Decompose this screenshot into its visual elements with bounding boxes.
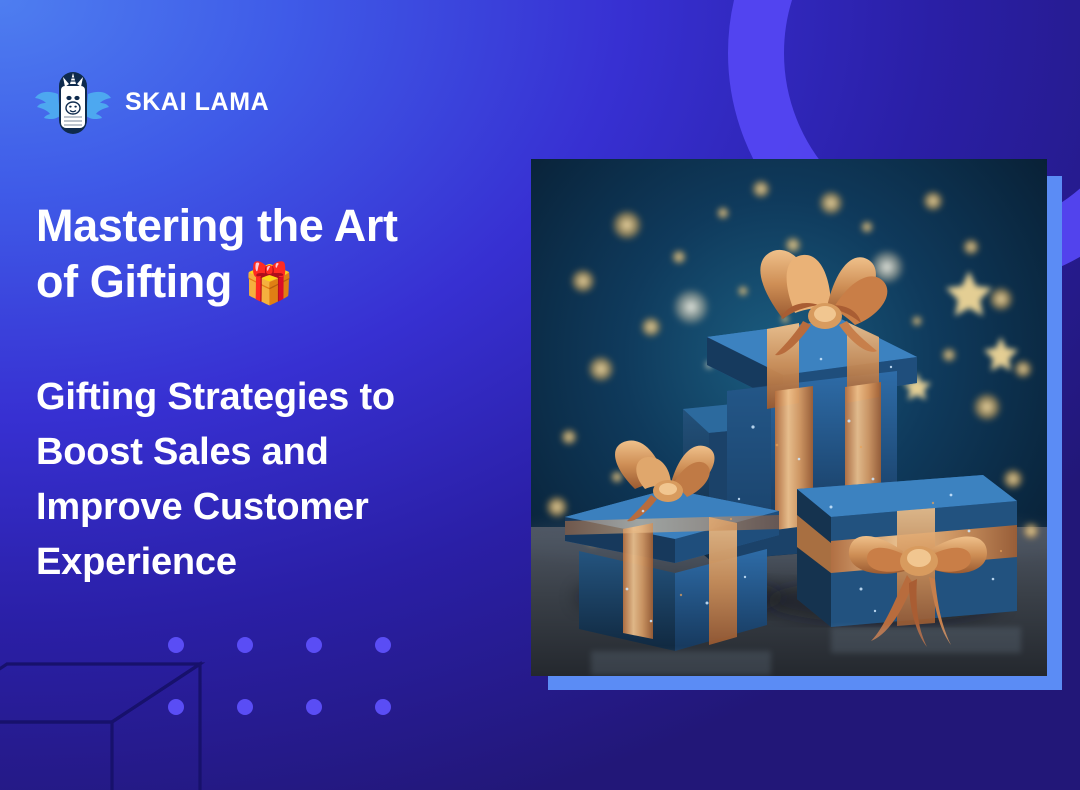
dot bbox=[237, 637, 253, 653]
headline-line-1: Mastering the Art bbox=[36, 200, 398, 251]
brand-name: SKAI LAMA bbox=[125, 88, 269, 117]
copy-block: Mastering the Art of Gifting 🎁 Gifting S… bbox=[36, 198, 516, 590]
wrapped-gift-emoji: 🎁 bbox=[244, 262, 293, 306]
subheadline-line-3: Improve Customer bbox=[36, 486, 369, 528]
page-title: Mastering the Art of Gifting 🎁 bbox=[36, 198, 516, 310]
subheadline-line-1: Gifting Strategies to bbox=[36, 376, 395, 418]
dot bbox=[306, 637, 322, 653]
dot-grid-decoration bbox=[168, 637, 448, 727]
subheadline-line-2: Boost Sales and bbox=[36, 431, 329, 473]
dot bbox=[237, 699, 253, 715]
dot bbox=[168, 699, 184, 715]
dot bbox=[375, 699, 391, 715]
subheadline-line-4: Experience bbox=[36, 541, 237, 583]
dot bbox=[168, 637, 184, 653]
promo-slide: SKAI LAMA Mastering the Art of Gifting 🎁… bbox=[0, 0, 1080, 790]
dot bbox=[306, 699, 322, 715]
brand-logo[interactable]: SKAI LAMA bbox=[34, 68, 269, 136]
winged-llama-icon bbox=[34, 68, 112, 136]
hero-image bbox=[531, 159, 1047, 676]
page-subtitle: Gifting Strategies to Boost Sales and Im… bbox=[36, 370, 516, 590]
headline-line-2: of Gifting bbox=[36, 256, 232, 307]
dot bbox=[375, 637, 391, 653]
